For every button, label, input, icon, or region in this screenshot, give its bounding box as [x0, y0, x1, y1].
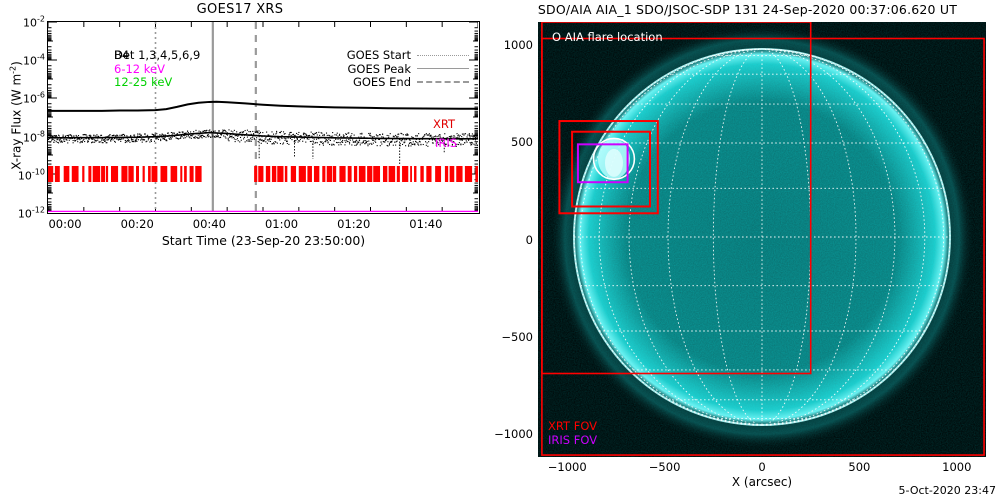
aia-x-tick-500: 500 [824, 460, 894, 474]
goes-short-noise-point [427, 142, 428, 143]
goes-short-noise-point [199, 134, 200, 135]
attenuator-bar [88, 166, 91, 182]
goes-short-noise-point [396, 136, 397, 137]
goes-short-noise-point [334, 134, 335, 135]
goes-short-noise-point [377, 145, 378, 146]
goes-short-noise-point [186, 136, 187, 137]
goes-short-noise-point [137, 133, 138, 134]
goes-short-noise-point [126, 135, 127, 136]
goes-short-noise-point [278, 138, 279, 139]
goes-short-noise-point [61, 140, 62, 141]
goes-short-noise-point [60, 141, 61, 142]
goes-short-noise-point [428, 134, 429, 135]
goes-short-noise-point [381, 136, 382, 137]
attenuator-bar [106, 166, 108, 182]
goes-short-noise-point [339, 135, 340, 136]
goes-short-noise-point [146, 141, 147, 142]
attenuator-bar [266, 166, 270, 182]
goes-short-noise-point [276, 131, 277, 132]
goes-short-noise-point [343, 134, 344, 135]
goes-short-noise-point [57, 139, 58, 140]
attenuator-bar [475, 166, 478, 182]
goes-short-noise-point [63, 139, 64, 140]
aia-flare-legend: O AIA flare location [552, 30, 663, 44]
goes-short-noise-point [303, 134, 304, 135]
goes-short-noise-point [122, 138, 123, 139]
attenuator-bar [410, 166, 412, 182]
aia-panel-title: SDO/AIA AIA_1 SDO/JSOC-SDP 131 24-Sep-20… [495, 2, 1000, 17]
goes-short-noise-point [179, 132, 180, 133]
goes-short-noise-point [414, 144, 415, 145]
goes-short-noise-point [464, 142, 465, 143]
goes-short-noise-point [413, 141, 414, 142]
goes-short-noise-point [164, 139, 165, 140]
goes-short-noise-point [94, 142, 95, 143]
goes-short-noise-point [275, 133, 276, 134]
goes-short-noise-point [233, 137, 234, 138]
goes-short-noise-point [125, 142, 126, 143]
goes-short-noise-point [404, 139, 405, 140]
goes-short-noise-point [54, 135, 55, 136]
goes-short-noise-point [459, 142, 460, 143]
goes-short-noise-point [428, 141, 429, 142]
attenuator-bar [121, 166, 127, 182]
goes-short-noise-point [73, 142, 74, 143]
goes-short-noise-point [199, 138, 200, 139]
goes-short-noise-point [325, 141, 326, 142]
goes-short-noise-point [356, 140, 357, 141]
goes-short-noise-point [253, 133, 254, 134]
goes-short-noise-point [100, 141, 101, 142]
goes-short-noise-point [56, 135, 57, 136]
goes-short-noise-point [99, 142, 100, 143]
goes-short-noise-point [48, 139, 49, 140]
goes-short-noise-point [337, 139, 338, 140]
goes-short-noise-point [367, 145, 368, 146]
goes-short-noise-point [357, 141, 358, 142]
goes-short-noise-point [427, 146, 428, 147]
goes-short-noise-point [397, 136, 398, 137]
goes-short-noise-point [239, 141, 240, 142]
goes-short-noise-point [387, 145, 388, 146]
goes-short-noise-point [321, 141, 322, 142]
goes-short-noise-point [160, 139, 161, 140]
goes-short-noise-point [266, 132, 267, 133]
goes-short-noise-point [405, 145, 406, 146]
goes-short-noise-point [191, 138, 192, 139]
goes-short-noise-point [136, 141, 137, 142]
goes-short-noise-point [285, 138, 286, 139]
goes-short-noise-point [149, 141, 150, 142]
goes-short-noise-point [360, 144, 361, 145]
goes-short-noise-point [473, 144, 474, 145]
goes-short-noise-point [274, 143, 275, 144]
goes-short-noise-point [78, 135, 79, 136]
goes-short-noise-point [218, 136, 219, 137]
goes-short-noise-point [151, 141, 152, 142]
goes-short-noise-point [348, 139, 349, 140]
goes-short-noise-point [330, 140, 331, 141]
attenuator-bar [180, 166, 182, 182]
goes-short-noise-point [103, 142, 104, 143]
attenuator-bar [171, 166, 178, 182]
goes-short-noise-point [235, 141, 236, 142]
attenuator-bar [93, 166, 100, 182]
attenuator-bar [152, 166, 158, 182]
goes-short-noise-point [364, 140, 365, 141]
goes-short-noise-point [109, 135, 110, 136]
goes-short-noise-point [472, 133, 473, 134]
goes-short-noise-point [134, 135, 135, 136]
goes-short-noise-point [265, 138, 266, 139]
goes-short-noise-point [90, 135, 91, 136]
goes-short-noise-point [271, 131, 272, 132]
goes-short-noise-point [306, 134, 307, 135]
goes-short-noise-point [418, 133, 419, 134]
goes-short-noise-point [169, 139, 170, 140]
goes-short-noise-point [259, 133, 260, 134]
goes-event-legend: GOES Start GOES Peak GOES End [347, 49, 469, 90]
goes-short-noise-point [329, 135, 330, 136]
attenuator-bar [161, 166, 168, 182]
goes-short-noise-point [265, 141, 266, 142]
goes-short-noise-point [337, 136, 338, 137]
goes-short-noise-point [288, 144, 289, 145]
goes-short-noise-point [157, 138, 158, 139]
goes-short-noise-point [121, 138, 122, 139]
goes-short-noise-point [206, 130, 207, 131]
goes-short-noise-point [238, 140, 239, 141]
goes-short-noise-point [380, 141, 381, 142]
goes-short-noise-point [374, 141, 375, 142]
goes-short-noise-point [287, 141, 288, 142]
goes-short-noise-point [361, 143, 362, 144]
attenuator-bar [348, 166, 352, 182]
goes-short-noise-point [340, 139, 341, 140]
aia-x-tick--1000: −1000 [532, 460, 602, 474]
goes-short-noise-point [77, 141, 78, 142]
goes-short-noise-point [151, 139, 152, 140]
goes-short-noise-point [232, 136, 233, 137]
goes-short-noise-point [323, 145, 324, 146]
goes-short-noise-point [273, 142, 274, 143]
goes-short-noise-point [469, 134, 470, 135]
goes-short-noise-point [264, 140, 265, 141]
goes-short-noise-point [410, 142, 411, 143]
goes-short-noise-point [231, 131, 232, 132]
goes-short-noise-point [317, 142, 318, 143]
goes-short-noise-point [228, 139, 229, 140]
goes-short-noise-point [476, 143, 477, 144]
goes-short-noise-point [204, 136, 205, 137]
goes-short-noise-point [344, 140, 345, 141]
goes-short-noise-point [351, 144, 352, 145]
goes-short-noise-point [318, 138, 319, 139]
goes-short-noise-point [205, 137, 206, 138]
attenuator-bar [64, 166, 70, 182]
goes-short-noise-point [212, 136, 213, 137]
goes-short-noise-point [285, 140, 286, 141]
goes-short-noise-point [336, 134, 337, 135]
goes-short-noise-point [182, 136, 183, 137]
goes-short-noise-point [53, 136, 54, 137]
goes-short-noise-point [66, 140, 67, 141]
goes-short-noise-point [318, 132, 319, 133]
goes-short-noise-point [311, 141, 312, 142]
goes-short-noise-point [65, 136, 66, 137]
attenuator-bar [184, 166, 187, 182]
goes-long-channel-curve [48, 102, 478, 111]
goes-short-noise-point [105, 140, 106, 141]
goes-short-noise-point [338, 144, 339, 145]
goes-short-noise-point [307, 138, 308, 139]
goes-short-noise-point [367, 144, 368, 145]
goes-short-noise-point [177, 133, 178, 134]
goes-short-noise-point [249, 139, 250, 140]
goes-end-line-sample [417, 81, 469, 84]
band-6-12-label: 6-12 keV [114, 63, 200, 77]
goes-x-tick-0120: 01:20 [324, 217, 384, 231]
goes-short-noise-point [229, 137, 230, 138]
goes-short-noise-point [390, 133, 391, 134]
goes-short-noise-point [458, 144, 459, 145]
attenuator-bar [383, 166, 387, 182]
render-timestamp: 5-Oct-2020 23:47 [899, 484, 996, 497]
goes-short-noise-point [367, 141, 368, 142]
goes-short-noise-point [96, 140, 97, 141]
goes-short-noise-point [62, 142, 63, 143]
goes-short-noise-point [53, 139, 54, 140]
aia-x-tick--500: −500 [630, 460, 700, 474]
iris-curve-label: IRIS [435, 136, 457, 150]
goes-short-noise-point [210, 137, 211, 138]
goes-short-noise-point [243, 131, 244, 132]
goes-short-channel-noise [48, 129, 478, 165]
goes-short-noise-point [73, 135, 74, 136]
goes-short-noise-point [232, 131, 233, 132]
goes-short-noise-point [89, 139, 90, 140]
goes-short-noise-point [337, 133, 338, 134]
goes-short-noise-point [426, 133, 427, 134]
goes-short-noise-point [192, 135, 193, 136]
goes-short-noise-point [54, 140, 55, 141]
goes-short-noise-point [104, 139, 105, 140]
goes-x-tick-0000: 00:00 [35, 217, 95, 231]
goes-short-noise-point [59, 135, 60, 136]
aia-y-axis-labels: 10005000−500−1000 [495, 0, 533, 480]
goes-short-noise-point [247, 130, 248, 131]
goes-short-noise-point [209, 129, 210, 130]
goes-short-noise-point [433, 136, 434, 137]
goes-short-noise-point [297, 138, 298, 139]
goes-short-noise-point [195, 136, 196, 137]
goes-short-noise-point [288, 138, 289, 139]
goes-short-noise-point [69, 140, 70, 141]
solar-flare-figure: GOES17 XRS 10-210-410-610-810-1010-12 X-… [0, 0, 1000, 500]
goes-short-noise-point [471, 144, 472, 145]
goes-short-noise-point [477, 145, 478, 146]
goes-short-noise-point [467, 135, 468, 136]
goes-short-noise-point [252, 136, 253, 137]
goes-short-noise-point [291, 132, 292, 133]
goes-short-noise-point [113, 139, 114, 140]
aia-image-panel: SDO/AIA AIA_1 SDO/JSOC-SDP 131 24-Sep-20… [495, 0, 1000, 500]
goes-short-noise-point [383, 137, 384, 138]
goes-short-noise-point [265, 137, 266, 138]
goes-short-noise-point [248, 141, 249, 142]
goes-short-noise-point [212, 135, 213, 136]
goes-short-noise-point [331, 145, 332, 146]
attenuator-bar [254, 166, 257, 182]
goes-short-noise-point [463, 135, 464, 136]
goes-short-noise-point [326, 133, 327, 134]
goes-short-noise-point [466, 136, 467, 137]
goes-short-noise-point [420, 141, 421, 142]
goes-short-noise-point [295, 140, 296, 141]
goes-short-noise-point [331, 136, 332, 137]
goes-short-noise-point [172, 137, 173, 138]
goes-short-noise-point [466, 140, 467, 141]
goes-short-noise-point [458, 134, 459, 135]
goes-short-noise-point [193, 131, 194, 132]
aia-y-tick--500: −500 [501, 330, 533, 344]
goes-short-noise-point [341, 144, 342, 145]
goes-short-noise-point [95, 135, 96, 136]
goes-short-noise-point [420, 144, 421, 145]
attenuator-bar [82, 166, 84, 182]
goes-short-noise-point [96, 134, 97, 135]
attenuator-bar [136, 166, 139, 182]
goes-short-noise-point [285, 133, 286, 134]
goes-short-noise-point [258, 141, 259, 142]
goes-short-noise-point [275, 142, 276, 143]
goes-short-noise-point [140, 140, 141, 141]
goes-short-noise-point [108, 139, 109, 140]
goes-short-noise-point [222, 131, 223, 132]
goes-peak-line-sample [417, 68, 469, 70]
goes-short-noise-point [139, 133, 140, 134]
goes-short-noise-point [76, 135, 77, 136]
attenuator-bar [339, 166, 345, 182]
attenuator-bar [277, 166, 283, 182]
goes-short-noise-point [135, 141, 136, 142]
aia-y-tick-0: 0 [526, 233, 533, 247]
goes-short-noise-point [212, 134, 213, 135]
goes-short-noise-point [132, 139, 133, 140]
goes-short-noise-point [257, 131, 258, 132]
goes-short-noise-point [188, 132, 189, 133]
goes-y-axis-title-text: X-ray Flux (W m [10, 74, 24, 170]
goes-short-noise-point [282, 144, 283, 145]
attenuator-bar [322, 166, 325, 182]
goes-short-noise-point [412, 144, 413, 145]
goes-short-noise-point [417, 142, 418, 143]
goes-short-noise-point [182, 132, 183, 133]
goes-short-noise-point [386, 139, 387, 140]
goes-short-noise-point [473, 135, 474, 136]
goes-short-noise-point [394, 136, 395, 137]
attenuator-bar [426, 166, 431, 182]
goes-short-noise-point [328, 139, 329, 140]
goes-short-noise-point [342, 140, 343, 141]
attenuator-bar [402, 166, 408, 182]
goes-plot-area: Det 1,3,4,5,6,9 B4 6-12 keV 12-25 keV GO… [47, 21, 480, 214]
goes-short-noise-point [269, 139, 270, 140]
goes-short-noise-point [133, 141, 134, 142]
goes-short-noise-point [395, 135, 396, 136]
goes-short-noise-point [359, 140, 360, 141]
goes-panel-title: GOES17 XRS [0, 2, 480, 17]
attenuator-bars [48, 166, 478, 182]
goes-short-noise-point [382, 134, 383, 135]
goes-short-noise-point [207, 135, 208, 136]
goes-short-noise-point [296, 133, 297, 134]
attenuator-bar [195, 166, 201, 182]
goes-short-noise-point [376, 134, 377, 135]
goes-short-noise-point [254, 138, 255, 139]
goes-short-noise-point [73, 140, 74, 141]
aia-y-tick--1000: −1000 [494, 427, 533, 441]
goes-short-noise-point [199, 131, 200, 132]
goes-short-noise-point [300, 139, 301, 140]
goes-short-noise-point [185, 132, 186, 133]
goes-short-noise-point [463, 144, 464, 145]
goes-short-noise-point [472, 142, 473, 143]
attenuator-bar [354, 166, 357, 182]
goes-short-noise-point [129, 142, 130, 143]
goes-legend-row-end: GOES End [347, 76, 469, 90]
aia-solar-image: O AIA flare location XRT FOV IRIS FOV [538, 22, 986, 457]
goes-short-noise-point [262, 132, 263, 133]
goes-short-noise-point [106, 142, 107, 143]
goes-short-noise-point [298, 134, 299, 135]
goes-short-noise-point [323, 142, 324, 143]
goes-short-noise-point [408, 144, 409, 145]
goes-short-noise-point [415, 135, 416, 136]
goes-short-noise-point [290, 138, 291, 139]
attenuator-bar [143, 166, 145, 182]
goes-short-noise-point [179, 138, 180, 139]
goes-short-noise-point [128, 139, 129, 140]
goes-short-noise-point [404, 142, 405, 143]
goes-short-noise-point [425, 141, 426, 142]
goes-short-noise-point [277, 143, 278, 144]
goes-x-tick-0040: 00:40 [179, 217, 239, 231]
goes-short-noise-point [328, 142, 329, 143]
goes-short-noise-point [430, 135, 431, 136]
goes-short-noise-point [403, 134, 404, 135]
goes-short-noise-point [225, 138, 226, 139]
goes-short-noise-point [246, 140, 247, 141]
aia-y-tick-500: 500 [511, 135, 533, 149]
attenuator-bar [55, 166, 60, 182]
goes-short-noise-point [371, 136, 372, 137]
attenuator-bar [397, 166, 400, 182]
goes-short-noise-point [208, 134, 209, 135]
goes-short-noise-point [144, 139, 145, 140]
goes-short-noise-point [110, 141, 111, 142]
goes-short-noise-point [407, 135, 408, 136]
goes-short-noise-point [380, 134, 381, 135]
goes-short-noise-point [119, 135, 120, 136]
goes-short-noise-point [302, 141, 303, 142]
goes-short-noise-point [83, 139, 84, 140]
goes-short-noise-point [268, 141, 269, 142]
goes-short-noise-point [86, 136, 87, 137]
goes-short-noise-point [424, 134, 425, 135]
goes-short-noise-point [251, 141, 252, 142]
goes-short-noise-point [324, 135, 325, 136]
